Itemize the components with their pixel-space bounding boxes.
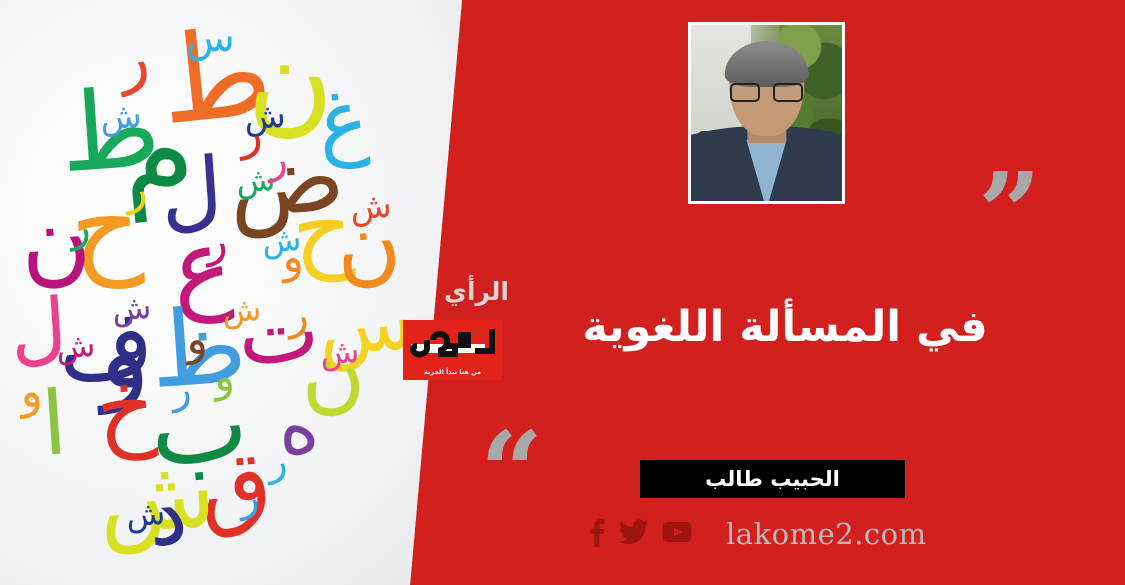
arabic-letter: ر (69, 205, 92, 248)
closing-quote-icon: ” (978, 158, 1041, 268)
facebook-icon[interactable] (586, 517, 606, 551)
youtube-icon[interactable] (662, 521, 692, 547)
arabic-letter: ش (261, 223, 302, 258)
arabic-letter: ر (171, 369, 193, 410)
lakome-logo-tagline: من هنا تبدأ الحرية (403, 368, 502, 376)
author-name-bar: الحبيب طالب (640, 460, 905, 498)
twitter-icon[interactable] (619, 519, 649, 549)
author-portrait-photo (691, 25, 842, 201)
section-label-opinion: الرأي (444, 277, 509, 306)
arabic-letter: ش (319, 335, 360, 370)
arabic-letter: ر (239, 477, 261, 518)
photo-glasses-left-lens (730, 83, 760, 102)
arabic-letter: ر (267, 139, 289, 180)
article-cover-card: طنرسغمطضلححعننوظتسفبخهنقشدالووووشششششششش… (0, 0, 1125, 585)
page-title: في المسألة اللغوية (540, 302, 1030, 352)
arabic-letter: ر (287, 293, 310, 336)
arabic-letter: و (213, 355, 236, 398)
arabic-letter: ر (267, 441, 289, 482)
arabic-letter: ش (99, 99, 143, 136)
footer: lakome2.com (586, 512, 927, 556)
arabic-letter: و (18, 367, 43, 414)
arabic-letter: س (186, 18, 235, 58)
arabic-letter: ر (238, 109, 263, 156)
opening-quote-icon: “ (480, 417, 543, 527)
arabic-letter: ش (349, 189, 393, 226)
site-url[interactable]: lakome2.com (726, 517, 927, 551)
arabic-letter: ش (125, 497, 166, 532)
arabic-letter: ر (124, 167, 148, 212)
arabic-letter: ر (204, 219, 228, 264)
lakome-logo-mark (403, 324, 502, 362)
social-links (586, 517, 692, 551)
author-portrait-frame (688, 22, 845, 204)
photo-glasses-right-lens (773, 83, 803, 102)
arabic-letter: ش (111, 291, 152, 326)
red-content-panel: ” الرأي من هنا تبدأ الحرية في المسألة ال… (400, 0, 1125, 585)
lakome-logo[interactable]: من هنا تبدأ الحرية (403, 320, 502, 380)
arabic-letter: ش (55, 329, 96, 364)
arabic-letter: ش (221, 293, 262, 328)
arabic-letter: و (184, 317, 208, 362)
author-name: الحبيب طالب (705, 467, 840, 491)
